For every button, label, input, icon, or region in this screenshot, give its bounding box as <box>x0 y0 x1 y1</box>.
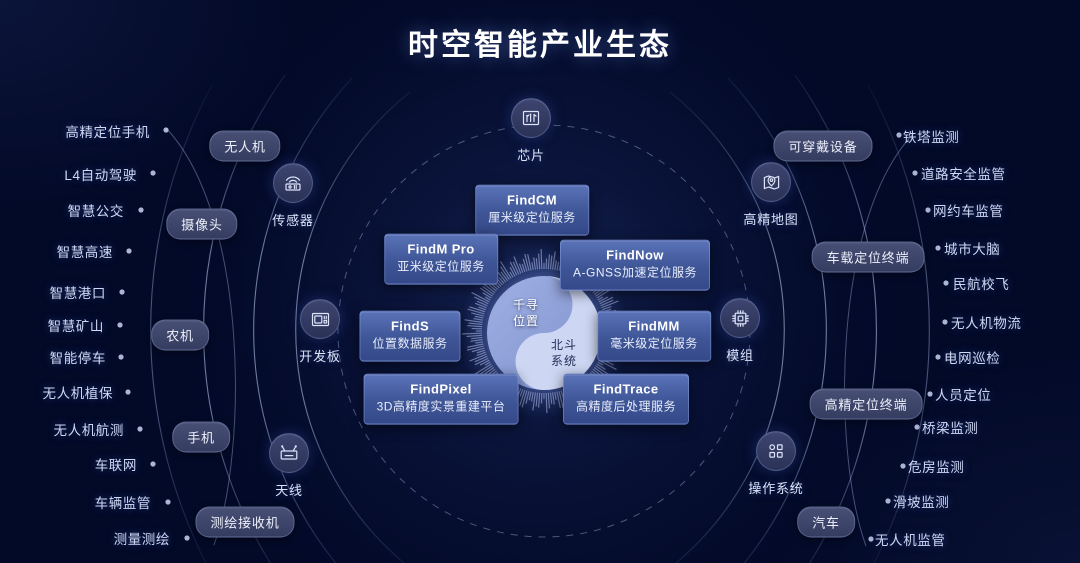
node-chip[interactable]: 芯片 <box>486 98 576 164</box>
service-findtrace[interactable]: FindTrace高精度后处理服务 <box>563 374 689 425</box>
pill-vehicle-terminal[interactable]: 车载定位终端 <box>812 242 925 273</box>
label-drone-supervision[interactable]: 无人机监管 <box>875 529 946 549</box>
pill-camera[interactable]: 摄像头 <box>166 209 237 240</box>
page-title: 时空智能产业生态 <box>0 20 1080 64</box>
service-description: 位置数据服务 <box>372 337 447 353</box>
label-smart-highway[interactable]: 智慧高速 <box>57 241 113 261</box>
service-findpixel[interactable]: FindPixel3D高精度实景重建平台 <box>364 374 519 425</box>
label-smart-mine[interactable]: 智慧矿山 <box>48 315 104 335</box>
node-os[interactable]: 操作系统 <box>731 431 821 497</box>
pill-mobile-phone[interactable]: 手机 <box>172 422 230 453</box>
node-antenna[interactable]: 天线 <box>244 433 334 499</box>
label-smart-parking[interactable]: 智能停车 <box>50 347 106 367</box>
node-hd-map[interactable]: 高精地图 <box>726 162 816 228</box>
label-ride-hailing-supervision[interactable]: 网约车监管 <box>933 200 1004 220</box>
service-name: FindS <box>372 319 447 335</box>
label-drone-logistics[interactable]: 无人机物流 <box>951 312 1022 332</box>
pill-drone[interactable]: 无人机 <box>209 131 280 162</box>
service-description: 3D高精度实景重建平台 <box>377 400 506 416</box>
core-light-line1: 千寻 <box>500 297 552 313</box>
module-icon <box>720 298 760 338</box>
service-findcm[interactable]: FindCM厘米级定位服务 <box>475 185 589 236</box>
pill-wearable[interactable]: 可穿戴设备 <box>773 131 872 162</box>
antenna-icon <box>269 433 309 473</box>
label-civil-aviation-calibration[interactable]: 民航校飞 <box>953 273 1009 293</box>
node-module[interactable]: 模组 <box>695 298 785 364</box>
pill-car[interactable]: 汽车 <box>797 507 855 538</box>
node-label: 模组 <box>695 345 785 364</box>
devboard-icon <box>300 299 340 339</box>
label-hd-phone[interactable]: 高精定位手机 <box>65 121 150 141</box>
sensor-icon <box>273 163 313 203</box>
label-drone-aerial-survey[interactable]: 无人机航测 <box>54 419 125 439</box>
service-name: FindTrace <box>576 382 676 398</box>
label-smart-port[interactable]: 智慧港口 <box>50 282 106 302</box>
node-label: 开发板 <box>275 346 365 365</box>
service-findm-pro[interactable]: FindM Pro亚米级定位服务 <box>384 234 498 285</box>
service-findmm[interactable]: FindMM毫米级定位服务 <box>597 311 711 362</box>
node-label: 传感器 <box>248 210 338 229</box>
infographic-canvas: 千寻 位置 北斗 系统 时空智能产业生态 FindCM厘米级定位服务FindM … <box>0 0 1080 563</box>
service-description: 厘米级定位服务 <box>488 211 576 227</box>
label-city-brain[interactable]: 城市大脑 <box>944 238 1000 258</box>
node-dev-board[interactable]: 开发板 <box>275 299 365 365</box>
label-survey-mapping[interactable]: 测量测绘 <box>114 528 170 548</box>
node-label: 芯片 <box>486 145 576 164</box>
label-landslide-monitoring[interactable]: 滑坡监测 <box>893 491 949 511</box>
pill-hd-terminal[interactable]: 高精定位终端 <box>810 389 923 420</box>
label-iov[interactable]: 车联网 <box>95 454 137 474</box>
pill-agri-machine[interactable]: 农机 <box>151 320 209 351</box>
service-name: FindMM <box>610 319 698 335</box>
node-sensor[interactable]: 传感器 <box>248 163 338 229</box>
os-grid-icon <box>756 431 796 471</box>
core-dark-line2: 系统 <box>538 353 590 369</box>
label-grid-inspection[interactable]: 电网巡检 <box>944 347 1000 367</box>
label-personnel-positioning[interactable]: 人员定位 <box>935 384 991 404</box>
label-bridge-monitoring[interactable]: 桥梁监测 <box>922 417 978 437</box>
pill-survey-receiver[interactable]: 测绘接收机 <box>195 507 294 538</box>
service-name: FindM Pro <box>397 242 485 258</box>
core-light-line2: 位置 <box>500 313 552 329</box>
service-findnow[interactable]: FindNowA-GNSS加速定位服务 <box>560 240 710 291</box>
map-pin-icon <box>751 162 791 202</box>
core-dark-line1: 北斗 <box>538 337 590 353</box>
service-description: 毫米级定位服务 <box>610 337 698 353</box>
chip-wafer-icon <box>511 98 551 138</box>
service-name: FindNow <box>573 248 697 264</box>
label-vehicle-supervision[interactable]: 车辆监管 <box>95 492 151 512</box>
service-finds[interactable]: FindS位置数据服务 <box>359 311 460 362</box>
node-label: 操作系统 <box>731 478 821 497</box>
label-drone-crop-protection[interactable]: 无人机植保 <box>43 382 114 402</box>
label-dangerous-building-monitoring[interactable]: 危房监测 <box>908 456 964 476</box>
service-description: 高精度后处理服务 <box>576 400 676 416</box>
label-l4-autonomous-driving[interactable]: L4自动驾驶 <box>64 164 137 184</box>
label-tower-monitoring[interactable]: 铁塔监测 <box>903 126 959 146</box>
node-label: 天线 <box>244 480 334 499</box>
label-road-safety[interactable]: 道路安全监管 <box>921 163 1006 183</box>
service-description: A-GNSS加速定位服务 <box>573 266 697 282</box>
node-label: 高精地图 <box>726 209 816 228</box>
label-smart-bus[interactable]: 智慧公交 <box>68 200 124 220</box>
service-name: FindCM <box>488 193 576 209</box>
service-name: FindPixel <box>377 382 506 398</box>
service-description: 亚米级定位服务 <box>397 260 485 276</box>
